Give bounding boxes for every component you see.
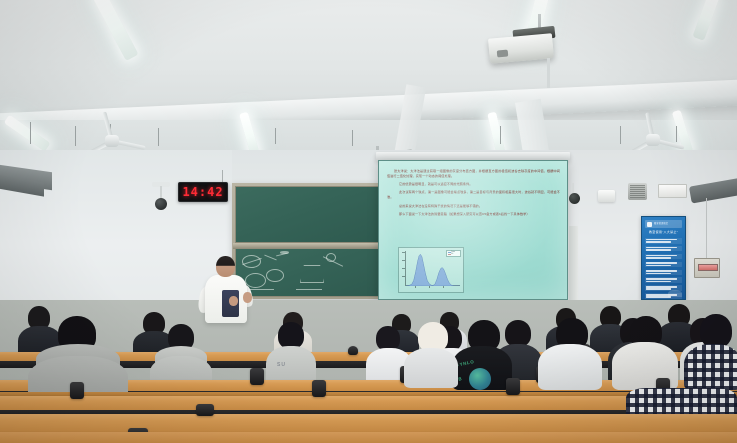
desk-knob (348, 346, 358, 355)
fan-hub (105, 135, 119, 147)
slide-paragraph: 它的优势是很明显，就是可以适应不同的光照条件。 (387, 182, 560, 187)
desk-knob (70, 382, 84, 399)
wall-junction-box (658, 184, 687, 198)
light-hanger-rod (500, 126, 501, 144)
blackboard-lower-panel (235, 248, 381, 297)
wall-camera-icon (569, 193, 580, 204)
ceiling (0, 0, 737, 168)
ceiling-tube-light (692, 0, 719, 41)
light-hanger-rod (352, 130, 353, 146)
fan-hub (646, 134, 660, 146)
camera-mount-stem (160, 186, 162, 198)
chart-legend: Data Fit (446, 250, 461, 257)
lecture-hall-photo: 14:42 张大洋说：大洋法是通过获取一组图像的灰度分布直方图，并根据直方图的极… (0, 0, 737, 443)
presenter-head (216, 256, 235, 277)
poster-rule-item (645, 277, 682, 283)
blackboard-chalk-rail (233, 243, 383, 249)
classroom-control-panel[interactable] (694, 258, 720, 278)
slide-histogram-chart: Data Fit (398, 247, 464, 293)
dome-camera-icon (155, 198, 167, 210)
ceiling-tube-light (91, 0, 138, 61)
poster-title: 教室使用“八大禁止” (642, 231, 685, 234)
chalk-diagram (266, 269, 284, 282)
light-hanger-rod (275, 128, 276, 144)
poster-rule-item (645, 262, 682, 268)
chalk-mark (280, 251, 289, 254)
control-panel-conduit (706, 198, 707, 258)
legend-label: Fit (451, 254, 453, 256)
projector-lens (497, 50, 509, 58)
desk-knob (196, 404, 214, 416)
chalk-diagram (326, 253, 336, 262)
chalk-stroke (296, 289, 322, 290)
digital-clock: 14:42 (178, 182, 228, 202)
poster-rule-item (645, 238, 682, 244)
slide-paragraph: 总的来说大津法在没有特殊干扰的情况下还是能够不错的。 (387, 204, 560, 209)
desk-knob (250, 368, 264, 385)
presenter-left-hand (229, 296, 238, 306)
fan-hanger-rod (620, 126, 621, 144)
wifi-access-point-icon (598, 190, 615, 202)
legend-swatch (448, 254, 451, 256)
plaid-shirt (684, 344, 737, 390)
chalk-stroke (264, 255, 276, 261)
light-hanger-rod (75, 126, 76, 146)
desk-knob (506, 378, 520, 395)
projector-cable (547, 58, 550, 88)
blackboard-upper-panel (235, 186, 381, 243)
chalk-trapezoid (300, 265, 324, 283)
shirt-globe-graphic (469, 368, 491, 390)
poster-rule-item (645, 270, 682, 276)
wall-speaker-icon (628, 183, 647, 200)
poster-rule-item (645, 254, 682, 260)
poster-rule-item (645, 246, 682, 252)
light-hanger-rod (676, 126, 677, 142)
desk-knob (312, 380, 326, 397)
light-hanger-rod (158, 128, 159, 146)
poster-badge-icon (647, 222, 652, 227)
poster-header: 教室管理规定 (645, 220, 682, 228)
control-panel-display (698, 264, 718, 271)
poster-header-text: 教室管理规定 (654, 223, 668, 225)
poster-rule-list (645, 238, 682, 289)
legend-item: Fit (448, 254, 459, 256)
slide-text-block: 张大洋说：大洋法是通过获取一组图像的灰度分布直方图，并根据直方图的极值和波谷去除… (387, 169, 560, 220)
poster-decoration (668, 290, 682, 297)
presenter-right-hand (243, 292, 252, 303)
projection-screen: 张大洋说：大洋法是通过获取一组图像的灰度分布直方图，并根据直方图的极值和波谷去除… (378, 160, 568, 300)
safety-poster: 教室管理规定 教室使用“八大禁止” (641, 216, 686, 300)
slide-paragraph: 张大洋说：大洋法是通过获取一组图像的灰度分布直方图，并根据直方图的极值和波谷去除… (387, 169, 560, 179)
slide-paragraph: 此次试有两个缺点，第一是图像可能会噪点较多，第二是目标与背景的面积相差很大时，波… (387, 190, 560, 200)
histogram-curve (406, 254, 460, 286)
slide-paragraph: 那么下面说一下大津法的简要思路（如果想深入研究可以查C5备方或者b后找一下具体数… (387, 212, 560, 217)
wall-edge-trim (569, 226, 578, 300)
clock-time-display: 14:42 (182, 186, 223, 198)
light-hanger-rod (30, 122, 31, 144)
